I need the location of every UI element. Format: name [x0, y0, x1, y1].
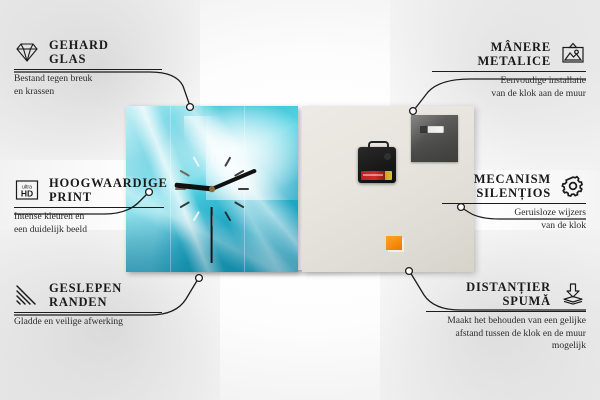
- feature-title: MECANISM SILENȚIOS: [474, 172, 551, 200]
- feature-title: MÂNERE METALICE: [477, 40, 551, 68]
- product-photo: [126, 106, 474, 272]
- feature-title: HOOGWAARDIGE PRINT: [49, 176, 168, 204]
- hanger-slot: [420, 126, 444, 133]
- divider: [432, 71, 586, 72]
- feature-title: DISTANȚIER SPUMĂ: [466, 280, 551, 308]
- divider: [14, 312, 162, 313]
- divider: [426, 311, 586, 312]
- ultra-hd-icon: ultra HD: [14, 178, 40, 202]
- diamond-icon: [14, 40, 40, 64]
- spacer-layers-icon: [560, 282, 586, 306]
- bevelled-edges-icon: [14, 283, 40, 307]
- feature-title: GEHARD GLAS: [49, 38, 109, 66]
- divider: [14, 207, 164, 208]
- gear-icon: [560, 174, 586, 198]
- clock-second-hand: [211, 207, 213, 263]
- clock-movement: [358, 147, 396, 183]
- foam-spacer: [386, 236, 402, 250]
- feature-desc: Bestand tegen breuk en krassen: [14, 73, 164, 98]
- infographic-canvas: GEHARD GLAS Bestand tegen breuk en krass…: [0, 0, 600, 400]
- feature-mecanism-silentios: MECANISM SILENȚIOS Geruisloze wijzers va…: [440, 172, 586, 232]
- divider: [442, 203, 586, 204]
- feature-desc: Gladde en veilige afwerking: [14, 316, 164, 329]
- feature-gehard-glas: GEHARD GLAS Bestand tegen breuk en krass…: [14, 38, 164, 98]
- feature-desc: Eenvoudige installatie van de klok aan d…: [430, 75, 586, 100]
- feature-distantier-spuma: DISTANȚIER SPUMĂ Maakt het behouden van …: [424, 280, 586, 353]
- feature-desc: Geruisloze wijzers van de klok: [440, 207, 586, 232]
- divider: [14, 69, 162, 70]
- time-set-knob: [384, 153, 391, 160]
- glass-seam: [170, 106, 171, 272]
- feature-title: GESLEPEN RANDEN: [49, 281, 122, 309]
- metal-hanger: [411, 115, 458, 162]
- feature-geslepen-randen: GESLEPEN RANDEN Gladde en veilige afwerk…: [14, 281, 164, 329]
- battery: [361, 171, 392, 180]
- hanging-loop: [368, 141, 389, 152]
- clock-center-pin: [209, 186, 215, 192]
- feature-hoogwaardige-print: ultra HD HOOGWAARDIGE PRINT Intense kleu…: [14, 176, 166, 236]
- feature-desc: Maakt het behouden van een gelijke afsta…: [424, 315, 586, 353]
- framed-picture-icon: [560, 42, 586, 66]
- svg-text:HD: HD: [21, 189, 33, 199]
- feature-manere-metalice: MÂNERE METALICE Eenvoudige installatie v…: [430, 40, 586, 100]
- feature-desc: Intense kleuren en een duidelijk beeld: [14, 211, 166, 236]
